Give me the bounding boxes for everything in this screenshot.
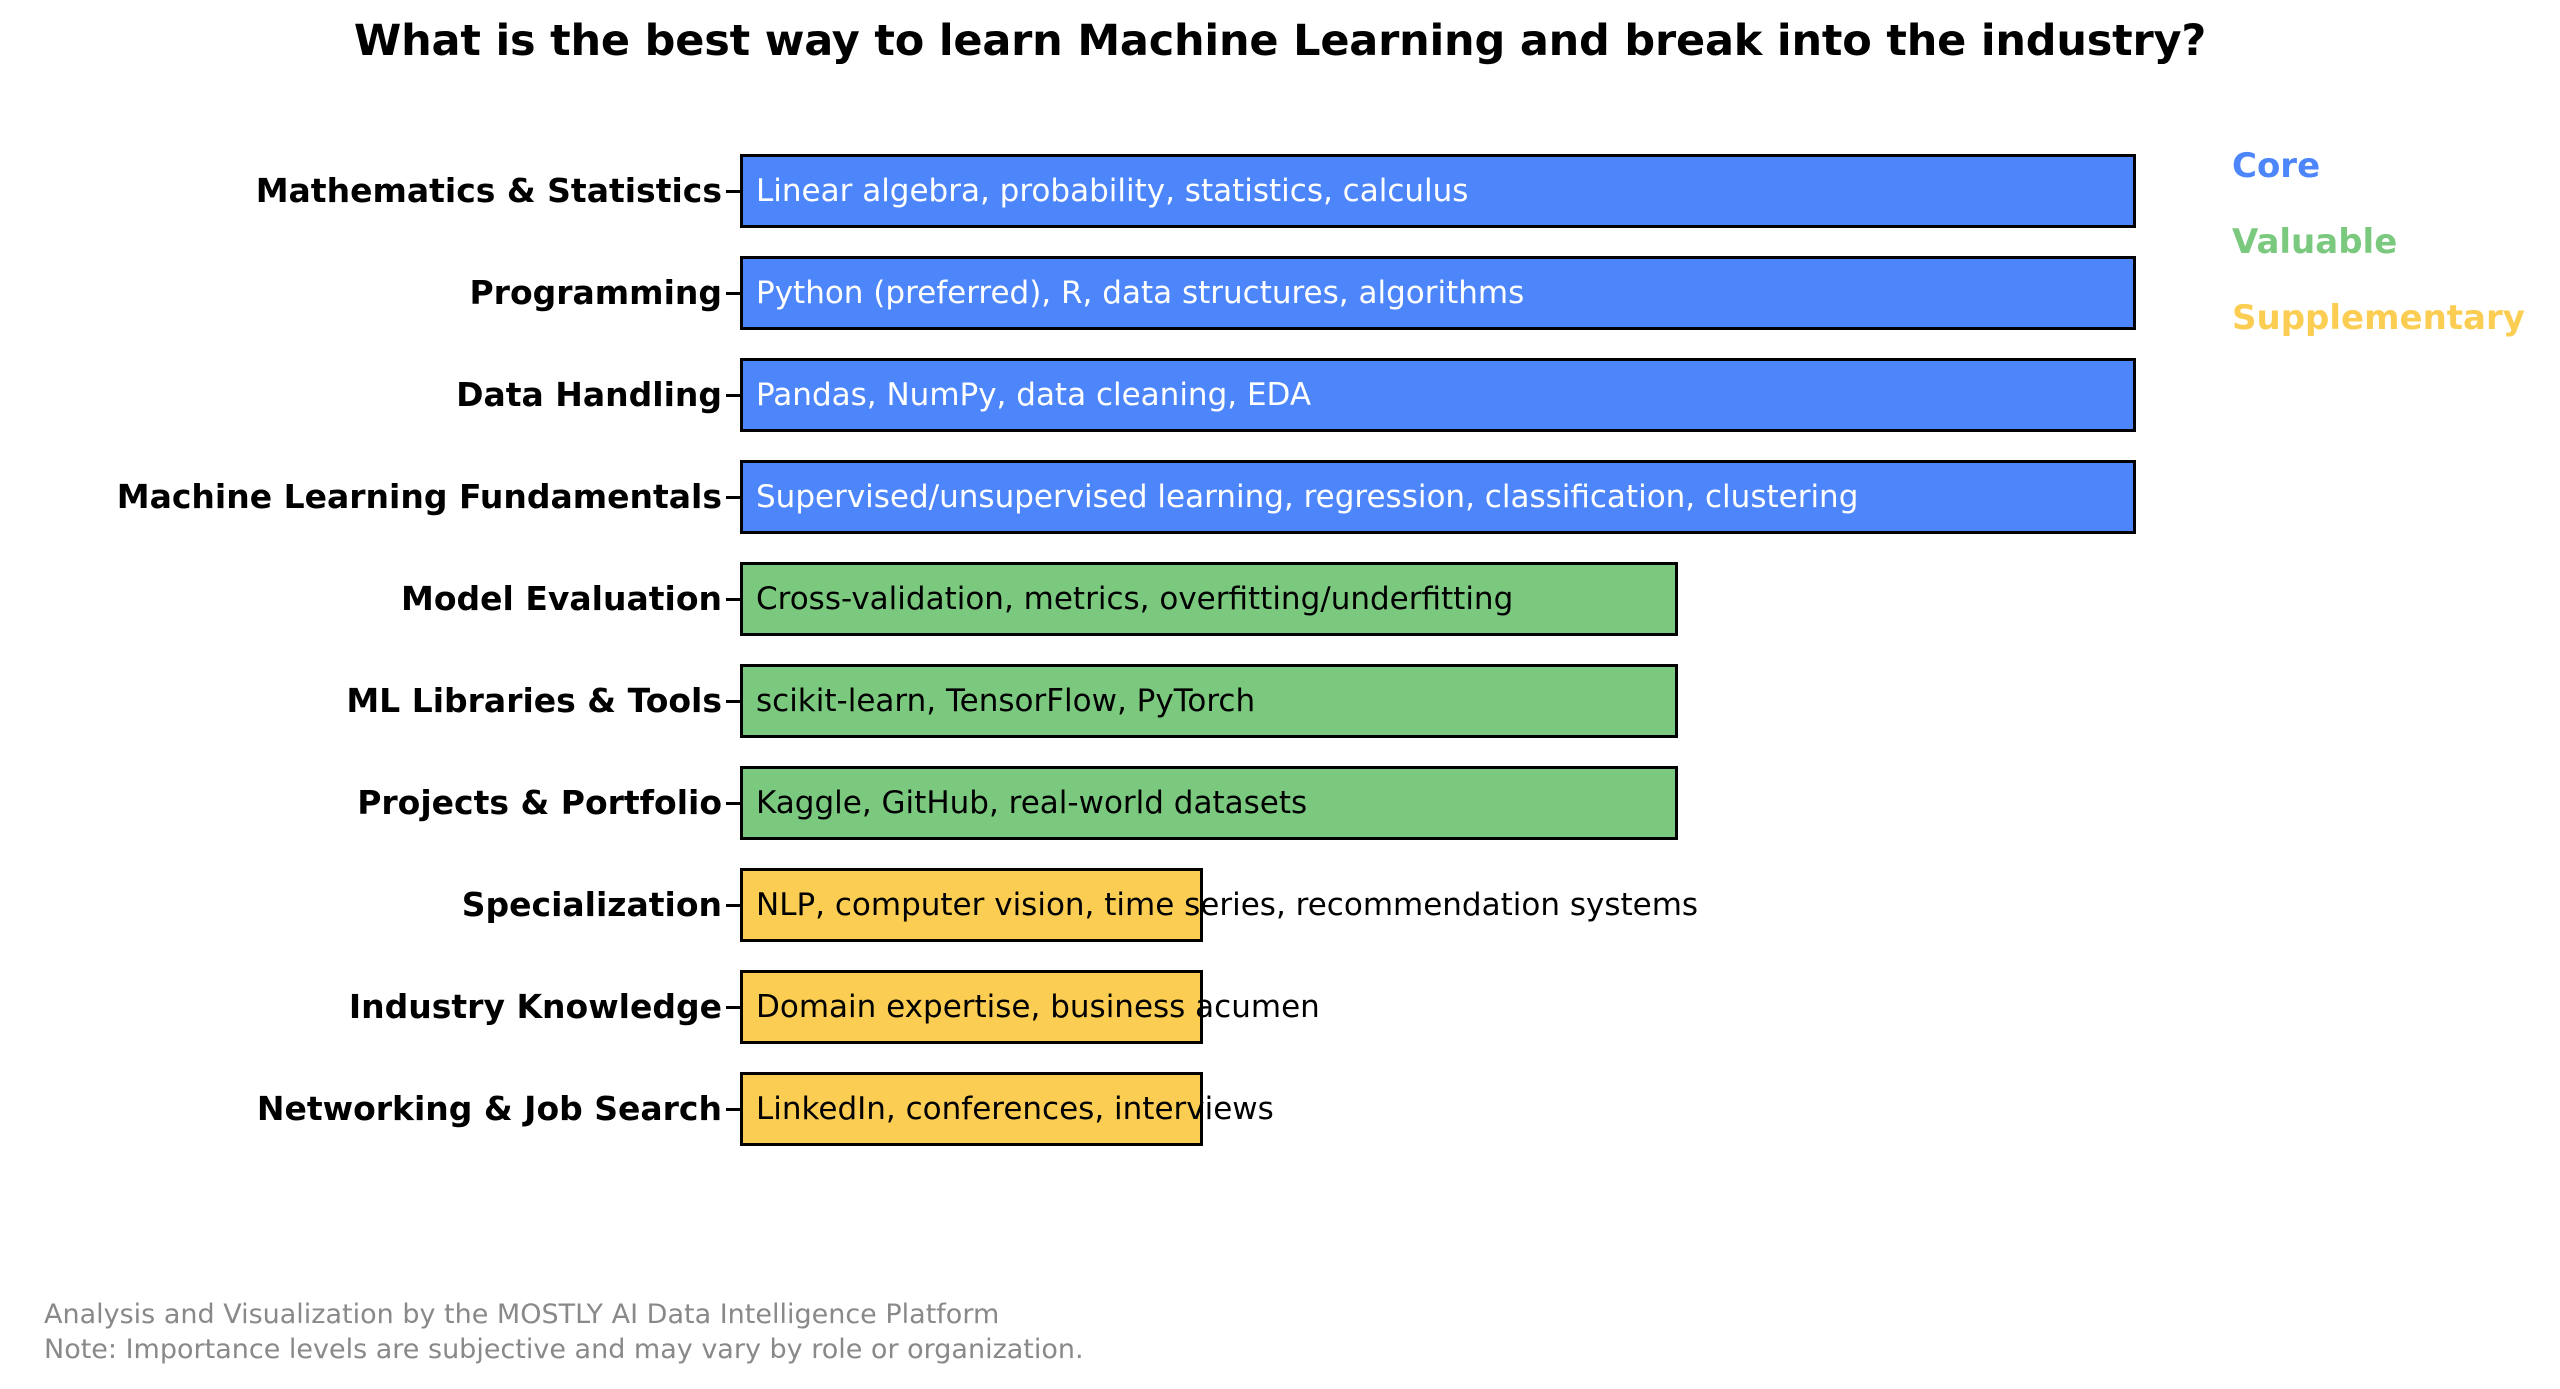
legend-item-valuable[interactable]: Valuable <box>2232 204 2560 280</box>
bar-core[interactable] <box>740 154 2136 228</box>
bar-row: Industry KnowledgeDomain expertise, busi… <box>0 970 2560 1044</box>
y-axis-tick-label: Projects & Portfolio <box>357 766 722 840</box>
bar-row: Projects & PortfolioKaggle, GitHub, real… <box>0 766 2560 840</box>
bar-row: ML Libraries & Toolsscikit-learn, Tensor… <box>0 664 2560 738</box>
bar-row: Machine Learning FundamentalsSupervised/… <box>0 460 2560 534</box>
footer-attribution-line: Analysis and Visualization by the MOSTLY… <box>44 1297 1084 1332</box>
footer-note: Analysis and Visualization by the MOSTLY… <box>44 1297 1084 1367</box>
bar-supplementary[interactable] <box>740 868 1203 942</box>
bar-valuable[interactable] <box>740 562 1678 636</box>
bar-core[interactable] <box>740 256 2136 330</box>
y-axis-tick-label: ML Libraries & Tools <box>346 664 722 738</box>
bar-valuable[interactable] <box>740 766 1678 840</box>
legend-item-core[interactable]: Core <box>2232 128 2560 204</box>
y-axis-tick-mark <box>726 496 740 499</box>
y-axis-tick-mark <box>726 190 740 193</box>
legend-item-supplementary[interactable]: Supplementary <box>2232 280 2560 356</box>
bar-core[interactable] <box>740 358 2136 432</box>
y-axis-tick-label: Programming <box>470 256 723 330</box>
y-axis-tick-label: Mathematics & Statistics <box>256 154 722 228</box>
y-axis-tick-mark <box>726 1108 740 1111</box>
y-axis-tick-label: Data Handling <box>456 358 722 432</box>
bar-supplementary[interactable] <box>740 1072 1203 1146</box>
y-axis-tick-mark <box>726 1006 740 1009</box>
y-axis-tick-label: Specialization <box>462 868 722 942</box>
chart-legend: CoreValuableSupplementary <box>2232 128 2560 356</box>
y-axis-tick-mark <box>726 802 740 805</box>
bar-row: Mathematics & StatisticsLinear algebra, … <box>0 154 2560 228</box>
y-axis-tick-mark <box>726 598 740 601</box>
page-title: What is the best way to learn Machine Le… <box>0 0 2560 66</box>
y-axis-tick-label: Networking & Job Search <box>257 1072 722 1146</box>
bar-row: SpecializationNLP, computer vision, time… <box>0 868 2560 942</box>
bar-row: Networking & Job SearchLinkedIn, confere… <box>0 1072 2560 1146</box>
y-axis-tick-mark <box>726 292 740 295</box>
footer-disclaimer-line: Note: Importance levels are subjective a… <box>44 1332 1084 1367</box>
bar-valuable[interactable] <box>740 664 1678 738</box>
y-axis-tick-mark <box>726 904 740 907</box>
bar-row: Data HandlingPandas, NumPy, data cleanin… <box>0 358 2560 432</box>
bar-row: ProgrammingPython (preferred), R, data s… <box>0 256 2560 330</box>
y-axis-tick-label: Machine Learning Fundamentals <box>117 460 722 534</box>
y-axis-tick-mark <box>726 700 740 703</box>
bar-supplementary[interactable] <box>740 970 1203 1044</box>
bar-core[interactable] <box>740 460 2136 534</box>
bar-chart-plot-area: Mathematics & StatisticsLinear algebra, … <box>0 140 2560 1160</box>
bar-row: Model EvaluationCross-validation, metric… <box>0 562 2560 636</box>
y-axis-tick-mark <box>726 394 740 397</box>
y-axis-tick-label: Industry Knowledge <box>349 970 722 1044</box>
y-axis-tick-label: Model Evaluation <box>401 562 722 636</box>
